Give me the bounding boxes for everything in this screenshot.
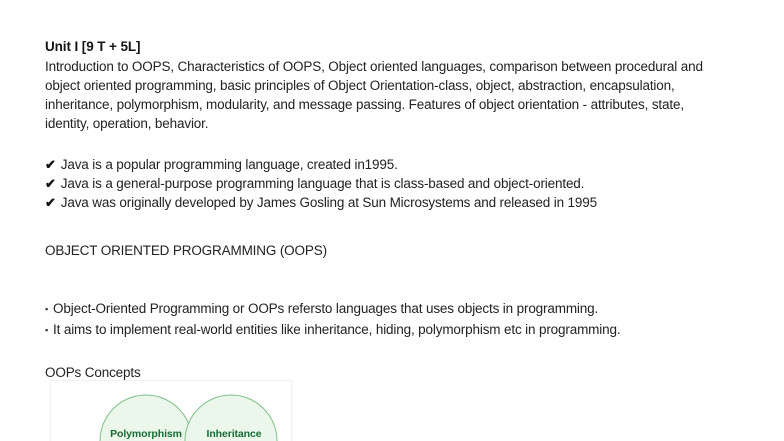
java-facts-list: ✔ Java is a popular programming language… xyxy=(45,155,745,212)
inheritance-label: Inheritance xyxy=(207,428,262,440)
list-item: ▪ It aims to implement real-world entiti… xyxy=(45,320,745,341)
list-item-text: Java is a popular programming language, … xyxy=(61,155,398,174)
square-bullet-icon: ▪ xyxy=(45,321,48,340)
list-item-text: Java is a general-purpose programming la… xyxy=(61,174,585,193)
oops-concepts-diagram: Polymorphism Inheritance xyxy=(50,380,292,441)
list-item-text: It aims to implement real-world entities… xyxy=(53,320,620,339)
list-item: ▪ Object-Oriented Programming or OOPs re… xyxy=(45,299,745,320)
intro-paragraph: Introduction to OOPS, Characteristics of… xyxy=(45,57,705,133)
square-bullet-icon: ▪ xyxy=(45,300,48,319)
list-item: ✔ Java is a general-purpose programming … xyxy=(45,174,745,193)
section-heading-oops: OBJECT ORIENTED PROGRAMMING (OOPS) xyxy=(45,241,745,260)
check-mark-icon: ✔ xyxy=(45,174,56,193)
list-item-text: Object-Oriented Programming or OOPs refe… xyxy=(53,299,598,318)
document-page: Unit I [9 T + 5L] Introduction to OOPS, … xyxy=(0,0,784,441)
list-item-text: Java was originally developed by James G… xyxy=(61,193,597,212)
list-item: ✔ Java is a popular programming language… xyxy=(45,155,745,174)
check-mark-icon: ✔ xyxy=(45,193,56,212)
check-mark-icon: ✔ xyxy=(45,155,56,174)
oops-definition-list: ▪ Object-Oriented Programming or OOPs re… xyxy=(45,299,745,341)
polymorphism-label: Polymorphism xyxy=(110,428,182,440)
list-item: ✔ Java was originally developed by James… xyxy=(45,193,745,212)
unit-heading: Unit I [9 T + 5L] xyxy=(45,38,745,56)
document-body: Unit I [9 T + 5L] Introduction to OOPS, … xyxy=(45,38,745,382)
